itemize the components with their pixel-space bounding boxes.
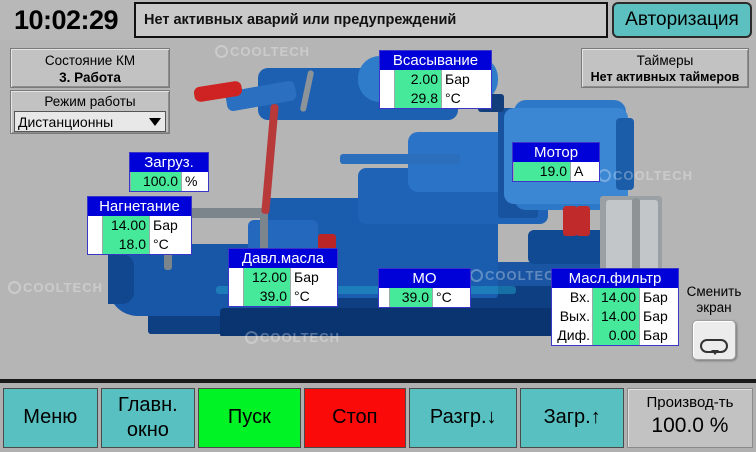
capacity-title: Производ-ть [628, 393, 752, 412]
suction-title: Всасывание [380, 51, 491, 70]
oil-filter-diff-label: Диф. [552, 326, 592, 345]
mode-title: Режим работы [11, 93, 169, 110]
timers-panel: Таймеры Нет активных таймеров [581, 48, 749, 88]
discharge-pressure-unit: Бар [150, 216, 191, 235]
motor-current-unit: A [571, 162, 599, 181]
discharge-temperature-row: 18.0 °C [88, 235, 191, 254]
motor-current-value: 19.0 [513, 162, 571, 181]
motor-readout: Мотор 19.0 A [512, 142, 600, 182]
suction-pressure-value: 2.00 [394, 70, 442, 89]
load-value-row: 100.0 % [130, 172, 208, 191]
hmi-screen: 10:02:29 Нет активных аварий или предупр… [0, 0, 756, 452]
oil-filter-in-row: Вх. 14.00 Бар [552, 288, 678, 307]
suction-temperature-unit: °C [442, 89, 491, 108]
load-value: 100.0 [130, 172, 182, 191]
load-title: Загруз. [130, 153, 208, 172]
load-readout: Загруз. 100.0 % [129, 152, 209, 192]
chevron-down-icon [149, 118, 161, 126]
menu-button[interactable]: Меню [3, 388, 98, 448]
compressor-state-panel: Состояние КМ 3. Работа [10, 48, 170, 88]
oil-temperature-value: 39.0 [243, 287, 291, 306]
oil-filter-in-unit: Бар [640, 288, 678, 307]
suction-temperature-value: 29.8 [394, 89, 442, 108]
mo-value-row: 39.0 °C [379, 288, 470, 307]
main-window-label-line2: окно [127, 418, 169, 443]
discharge-temperature-unit: °C [150, 235, 191, 254]
oil-filter-out-unit: Бар [640, 307, 678, 326]
authorization-button[interactable]: Авторизация [612, 2, 752, 38]
oil-temperature-row: 39.0 °C [229, 287, 337, 306]
oil-filter-diff-row: Диф. 0.00 Бар [552, 326, 678, 345]
oil-filter-diff-value: 0.00 [592, 326, 640, 345]
change-screen-button[interactable] [692, 320, 736, 360]
oil-filter-out-label: Вых. [552, 307, 592, 326]
discharge-readout: Нагнетание 14.00 Бар 18.0 °C [87, 196, 192, 255]
footer-button-bar: Меню Главн. окно Пуск Стоп Разгр.↓ Загр.… [0, 383, 756, 452]
header-bar: 10:02:29 Нет активных аварий или предупр… [0, 0, 756, 40]
discharge-pressure-row: 14.00 Бар [88, 216, 191, 235]
timers-value: Нет активных таймеров [582, 69, 748, 86]
oil-filter-out-row: Вых. 14.00 Бар [552, 307, 678, 326]
mode-select-value: Дистанционны [18, 114, 113, 130]
motor-current-row: 19.0 A [513, 162, 599, 181]
oil-filter-diff-unit: Бар [640, 326, 678, 345]
suction-pressure-unit: Бар [442, 70, 491, 89]
oil-pressure-row: 12.00 Бар [229, 268, 337, 287]
operating-mode-panel: Режим работы Дистанционны [10, 90, 170, 134]
state-value: 3. Работа [11, 69, 169, 86]
capacity-panel: Производ-ть 100.0 % [627, 388, 753, 448]
oil-pressure-unit: Бар [291, 268, 337, 287]
mode-select-dropdown[interactable]: Дистанционны [14, 111, 166, 132]
oil-temperature-unit: °C [291, 287, 337, 306]
change-screen-label-line1: Сменить [678, 284, 750, 300]
main-graphic-area: COOLTECH COOLTECH COOLTECH COOLTECH COOL… [0, 40, 756, 381]
discharge-title: Нагнетание [88, 197, 191, 216]
oil-filter-out-value: 14.00 [592, 307, 640, 326]
change-screen-label-line2: экран [678, 300, 750, 316]
oil-filter-in-label: Вх. [552, 288, 592, 307]
oil-filter-in-value: 14.00 [592, 288, 640, 307]
oil-filter-title: Масл.фильтр [552, 269, 678, 288]
oil-filter-readout: Масл.фильтр Вх. 14.00 Бар Вых. 14.00 Бар… [551, 268, 679, 346]
discharge-temperature-value: 18.0 [102, 235, 150, 254]
mo-readout: МО 39.0 °C [378, 268, 471, 308]
clock-display: 10:02:29 [2, 2, 130, 38]
load-button[interactable]: Загр.↑ [520, 388, 623, 448]
timers-title: Таймеры [582, 52, 748, 69]
suction-temperature-row: 29.8 °C [380, 89, 491, 108]
load-unit: % [182, 172, 208, 191]
main-window-button[interactable]: Главн. окно [101, 388, 196, 448]
stop-button[interactable]: Стоп [304, 388, 406, 448]
suction-readout: Всасывание 2.00 Бар 29.8 °C [379, 50, 492, 109]
change-screen-control[interactable]: Сменить экран [678, 284, 750, 376]
loop-arrow-icon [700, 339, 728, 353]
discharge-pressure-value: 14.00 [102, 216, 150, 235]
oil-pressure-title: Давл.масла [229, 249, 337, 268]
start-button[interactable]: Пуск [198, 388, 300, 448]
suction-pressure-row: 2.00 Бар [380, 70, 491, 89]
mo-value: 39.0 [389, 288, 433, 307]
state-title: Состояние КМ [11, 52, 169, 69]
oil-pressure-readout: Давл.масла 12.00 Бар 39.0 °C [228, 248, 338, 307]
oil-pressure-value: 12.00 [243, 268, 291, 287]
alarm-status-bar: Нет активных аварий или предупреждений [134, 2, 608, 38]
main-window-label-line1: Главн. [118, 393, 178, 418]
watermark: COOLTECH [8, 280, 103, 295]
motor-title: Мотор [513, 143, 599, 162]
mo-unit: °C [433, 288, 470, 307]
unload-button[interactable]: Разгр.↓ [409, 388, 517, 448]
capacity-value: 100.0 % [628, 412, 752, 440]
mo-title: МО [379, 269, 470, 288]
